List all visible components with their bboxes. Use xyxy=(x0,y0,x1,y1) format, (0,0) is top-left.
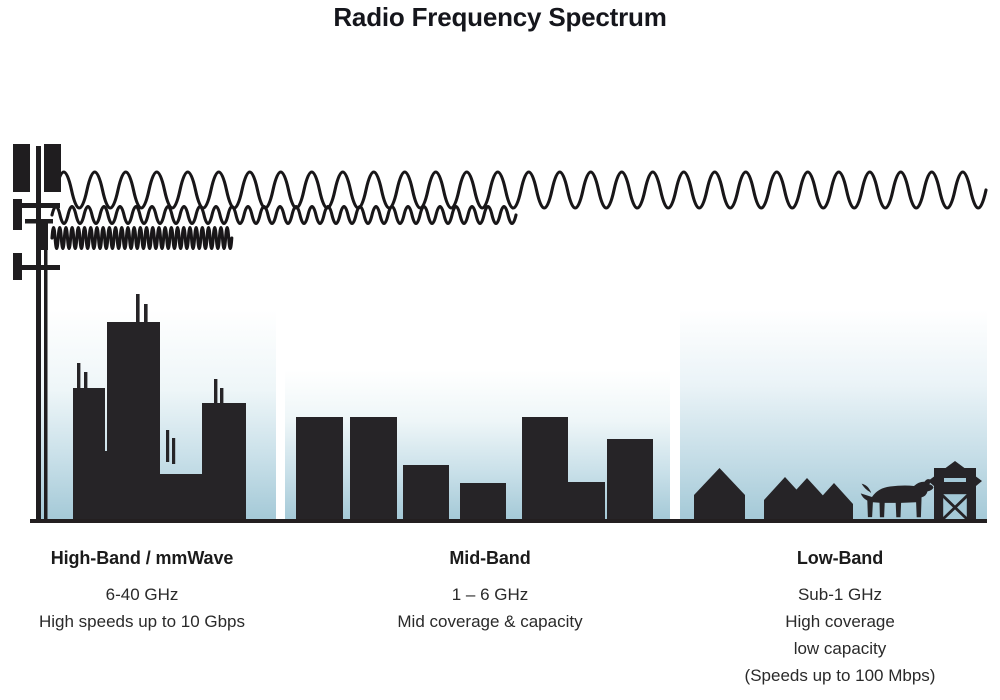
band-caption-high-band: High-Band / mmWave 6-40 GHz High speeds … xyxy=(0,548,284,635)
band-lines-mid-band: 1 – 6 GHz Mid coverage & capacity xyxy=(330,581,650,635)
skyscraper-building xyxy=(160,474,202,520)
band-coverage-low-band: High coverage xyxy=(690,608,990,635)
midband-building xyxy=(522,417,568,520)
tower-antenna-panel-mid-right xyxy=(39,222,48,250)
radio-wave-long xyxy=(56,172,986,208)
ground-baseline xyxy=(30,519,987,523)
tower-crossbar-lower xyxy=(22,265,60,270)
barn-door-frame xyxy=(940,491,970,494)
skyscraper-spire xyxy=(166,430,169,462)
barn-icon xyxy=(928,461,982,520)
band-caption-mid-band: Mid-Band 1 – 6 GHz Mid coverage & capaci… xyxy=(330,548,650,635)
radio-wave-short xyxy=(52,228,232,249)
midband-building xyxy=(403,465,449,520)
band-lines-low-band: Sub-1 GHz High coverage low capacity (Sp… xyxy=(690,581,990,689)
band-frequency-mid-band: 1 – 6 GHz xyxy=(330,581,650,608)
band-description-high-band: High speeds up to 10 Gbps xyxy=(0,608,284,635)
band-heading-mid-band: Mid-Band xyxy=(330,548,650,569)
band-heading-low-band: Low-Band xyxy=(690,548,990,569)
band-frequency-high-band: 6-40 GHz xyxy=(0,581,284,608)
midband-building xyxy=(568,482,605,520)
band-heading-high-band: High-Band / mmWave xyxy=(0,548,284,569)
skyscraper-building xyxy=(107,322,160,520)
tower-antenna-panel-mid-left xyxy=(13,199,22,230)
radio-wave-medium xyxy=(52,207,516,224)
band-capacity-low-band: low capacity xyxy=(690,635,990,662)
radio-waves xyxy=(52,172,986,249)
band-speed-low-band: (Speeds up to 100 Mbps) xyxy=(690,662,990,689)
barn-door-frame xyxy=(967,491,970,520)
tower-mast-secondary xyxy=(44,236,48,520)
tower-antenna-panel-top-left xyxy=(13,144,30,192)
band-lines-high-band: 6-40 GHz High speeds up to 10 Gbps xyxy=(0,581,284,635)
band-frequency-low-band: Sub-1 GHz xyxy=(690,581,990,608)
barn-door-frame xyxy=(940,491,943,520)
tower-antenna-panel-low-left xyxy=(13,253,22,280)
tower-mast-main xyxy=(36,146,41,520)
midband-building xyxy=(607,439,653,520)
skyscraper-spire xyxy=(172,438,175,464)
barn-vent xyxy=(944,478,966,482)
tower-crossbar-upper xyxy=(21,203,60,208)
tower-antenna-panel-top-right xyxy=(44,144,61,192)
midband-building xyxy=(296,417,343,520)
skyscraper-building xyxy=(73,388,105,520)
band-caption-low-band: Low-Band Sub-1 GHz High coverage low cap… xyxy=(690,548,990,689)
infographic-canvas: Radio Frequency Spectrum xyxy=(0,0,1000,700)
band-description-mid-band: Mid coverage & capacity xyxy=(330,608,650,635)
midband-building xyxy=(460,483,506,520)
midband-building xyxy=(350,417,397,520)
skyscraper-building xyxy=(202,403,246,520)
